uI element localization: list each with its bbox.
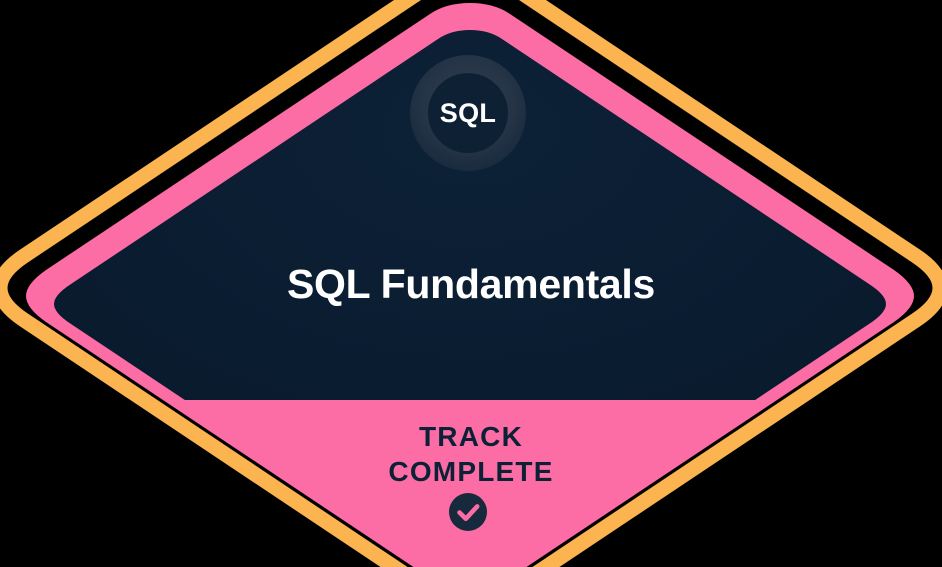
badge-graphic <box>0 0 942 567</box>
abbreviation-ring <box>410 55 526 171</box>
check-mark-icon <box>449 493 487 531</box>
track-badge[interactable]: SQL SQL Fundamentals TRACK COMPLETE <box>0 0 942 567</box>
